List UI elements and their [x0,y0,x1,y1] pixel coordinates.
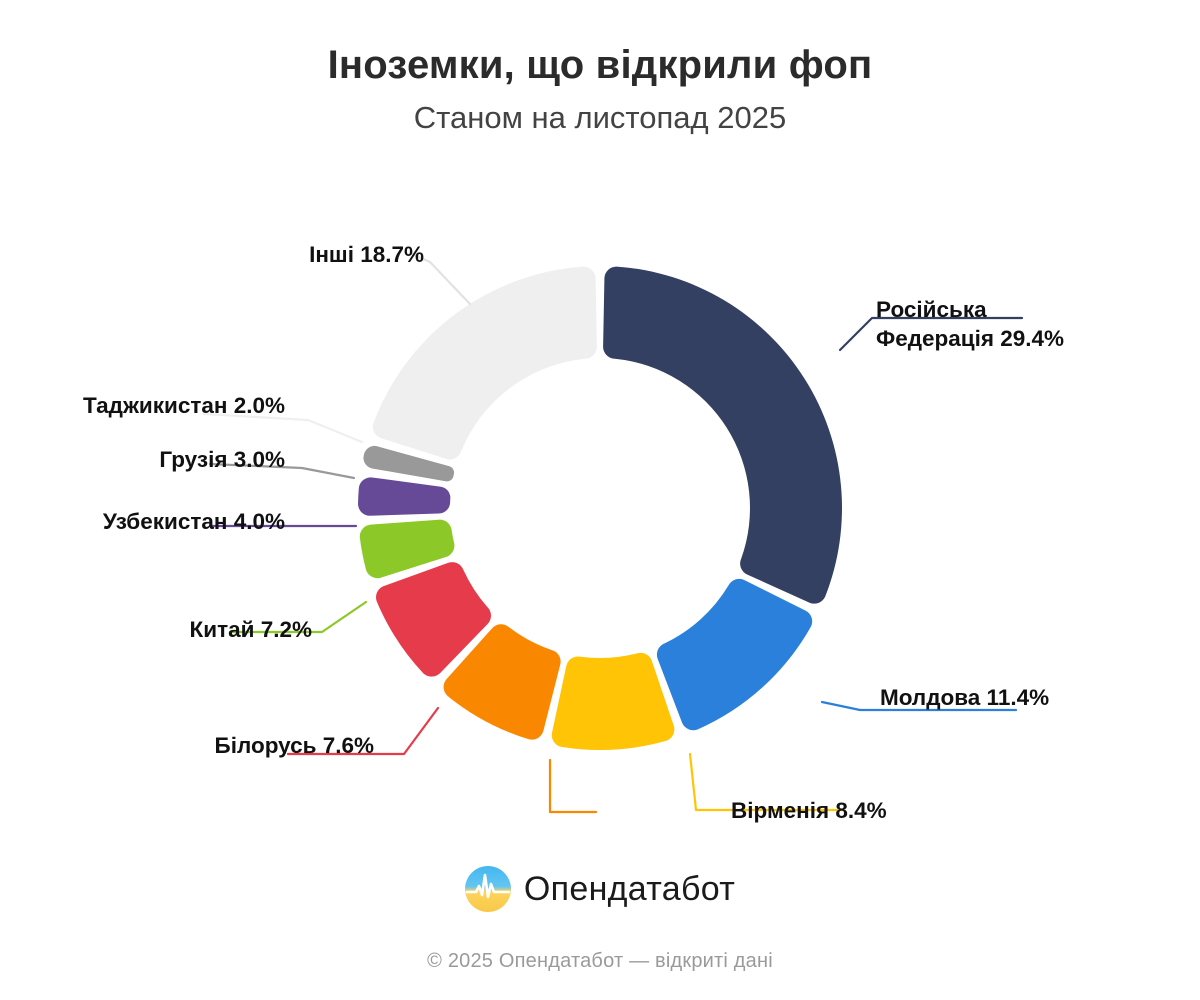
opendatabot-logo-icon [465,866,511,912]
page-title: Іноземки, що відкрили фоп [0,42,1200,88]
slice-label-armenia: Вірменія 8.4% [731,797,887,826]
donut-slice[interactable] [363,446,454,481]
donut-slice[interactable] [358,477,450,515]
slice-label-belarus: Білорусь 7.6% [215,732,374,761]
slice-label-china: Китай 7.2% [190,616,312,645]
title-block: Іноземки, що відкрили фоп Станом на лист… [0,42,1200,136]
donut-slice[interactable] [376,562,491,677]
slice-label-georgia: Грузія 3.0% [159,446,285,475]
slice-label-tajikistan: Таджикистан 2.0% [83,392,285,421]
slice-label-moldova: Молдова 11.4% [880,684,1049,713]
donut-chart-svg [0,0,1200,1000]
chart-page: Іноземки, що відкрили фоп Станом на лист… [0,0,1200,1000]
donut-slices [358,267,842,750]
slice-label-russia: Російська Федерація 29.4% [876,296,1064,354]
donut-slice[interactable] [552,653,675,750]
brand-block: Опендатабот [0,866,1200,912]
donut-slice[interactable] [360,520,455,579]
donut-slice[interactable] [603,267,842,604]
donut-slice[interactable] [444,624,561,739]
donut-slice[interactable] [657,579,812,730]
logo-pulse-icon [465,866,511,912]
donut-chart [0,0,1200,1000]
donut-slice[interactable] [373,267,597,460]
copyright-text: © 2025 Опендатабот — відкриті дані [0,950,1200,973]
page-subtitle: Станом на листопад 2025 [0,100,1200,136]
slice-label-others: Інші 18.7% [309,241,424,270]
slice-label-uzbekistan: Узбекистан 4.0% [103,508,285,537]
leader-line [550,760,596,812]
brand-name: Опендатабот [524,870,735,909]
